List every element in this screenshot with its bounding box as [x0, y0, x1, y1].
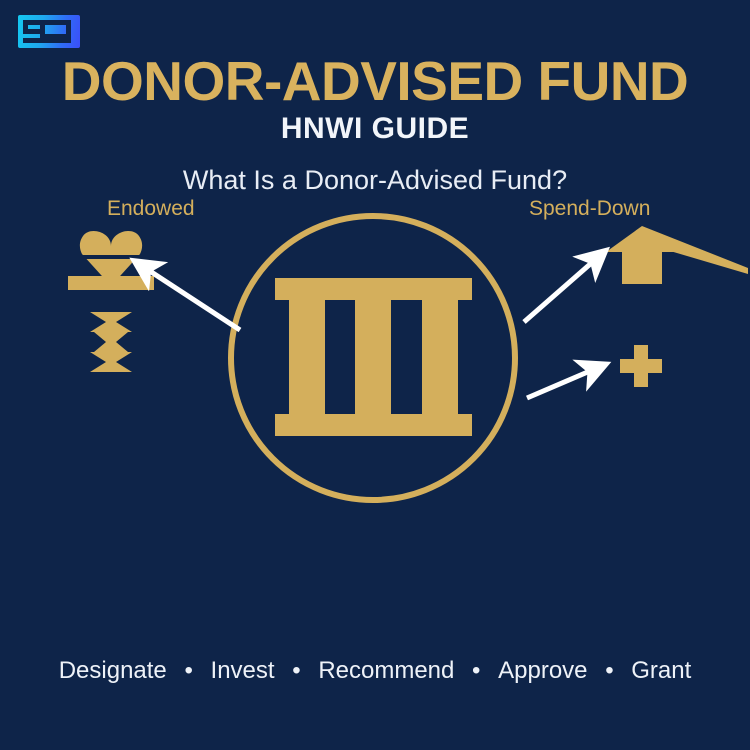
step-separator-3: •: [463, 657, 489, 684]
section-question: What Is a Donor-Advised Fund?: [0, 167, 750, 194]
infographic-canvas: DONOR-ADVISED FUND HNWI GUIDE What Is a …: [0, 0, 750, 750]
step-approve: Approve: [496, 657, 589, 684]
page-subtitle: HNWI GUIDE: [0, 114, 750, 144]
step-recommend: Recommend: [316, 657, 456, 684]
page-title: DONOR-ADVISED FUND: [0, 54, 750, 109]
arrow-center-to-cross: [527, 365, 604, 398]
step-separator-4: •: [596, 657, 622, 684]
heart-donation-icon: [68, 228, 154, 290]
hourglass-stack-icon: [88, 312, 134, 372]
label-endowed: Endowed: [107, 198, 195, 219]
growth-arrow-icon: [600, 222, 748, 284]
step-invest: Invest: [209, 657, 277, 684]
classical-columns-icon: [275, 278, 472, 436]
step-separator-1: •: [175, 657, 201, 684]
charity-cross-icon: [620, 345, 662, 387]
step-designate: Designate: [57, 657, 169, 684]
process-steps: Designate • Invest • Recommend • Approve…: [0, 659, 750, 683]
brand-logo-glyph: [18, 15, 80, 48]
brand-logo[interactable]: [18, 15, 80, 48]
arrow-center-to-growth: [524, 252, 604, 322]
label-spend-down: Spend-Down: [529, 198, 650, 219]
step-separator-2: •: [283, 657, 309, 684]
step-grant: Grant: [629, 657, 693, 684]
